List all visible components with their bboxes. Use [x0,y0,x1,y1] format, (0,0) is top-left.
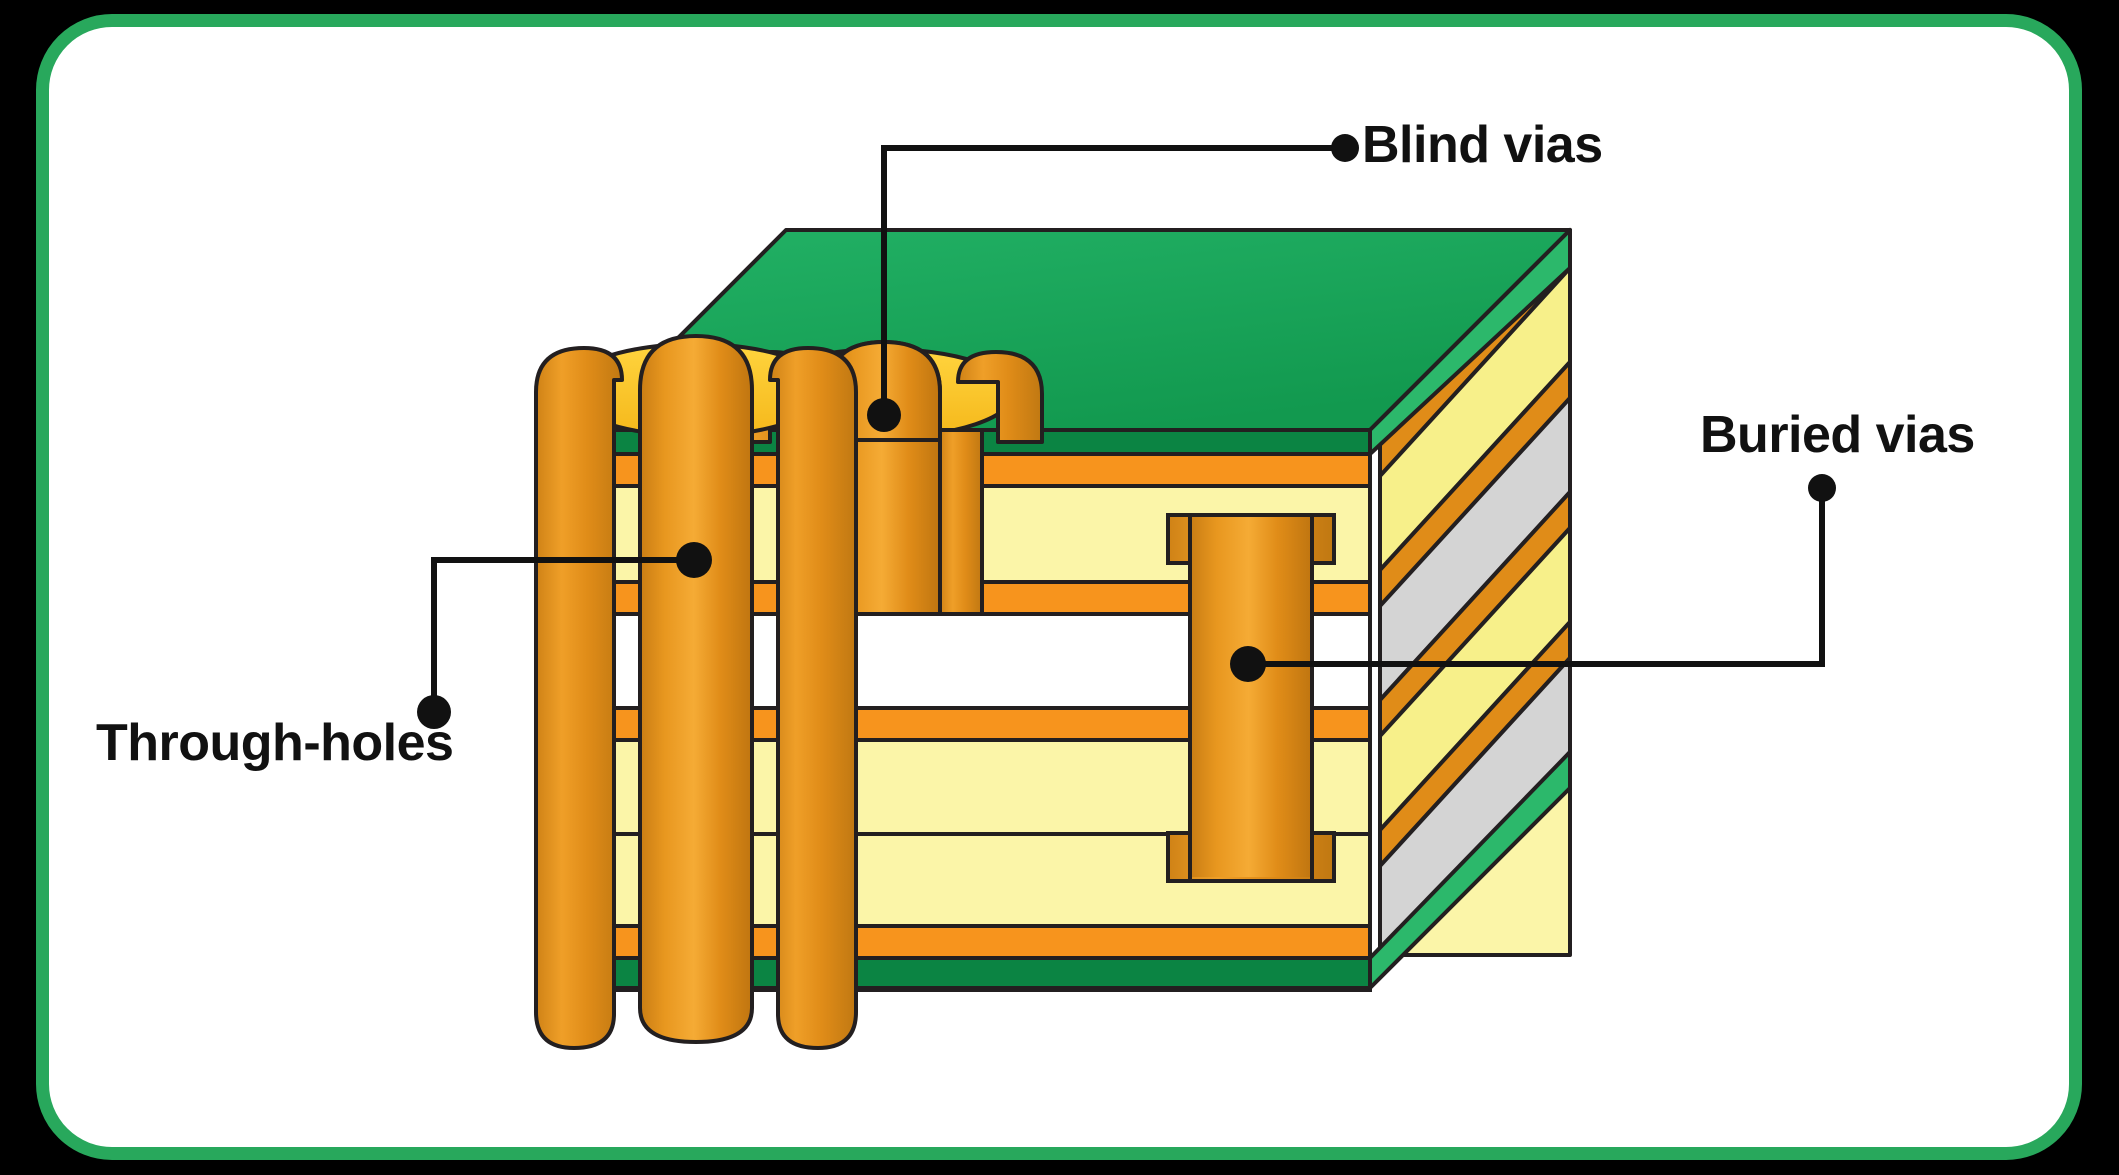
dot-blind-via [867,398,901,432]
diagram-canvas: Blind vias Buried vias Through-holes [0,0,2119,1175]
buried-via[interactable] [1168,515,1334,881]
label-through-holes: Through-holes [96,713,453,773]
through-hole-via[interactable] [536,336,856,1048]
label-blind-vias: Blind vias [1362,115,1603,175]
pcb-cross-section-illustration [0,0,2119,1175]
label-buried-vias: Buried vias [1700,405,1975,465]
dot-buried-via [1230,646,1266,682]
dot-blind-label [1331,134,1359,162]
dot-buried-label [1808,474,1836,502]
dot-through-via [676,542,712,578]
